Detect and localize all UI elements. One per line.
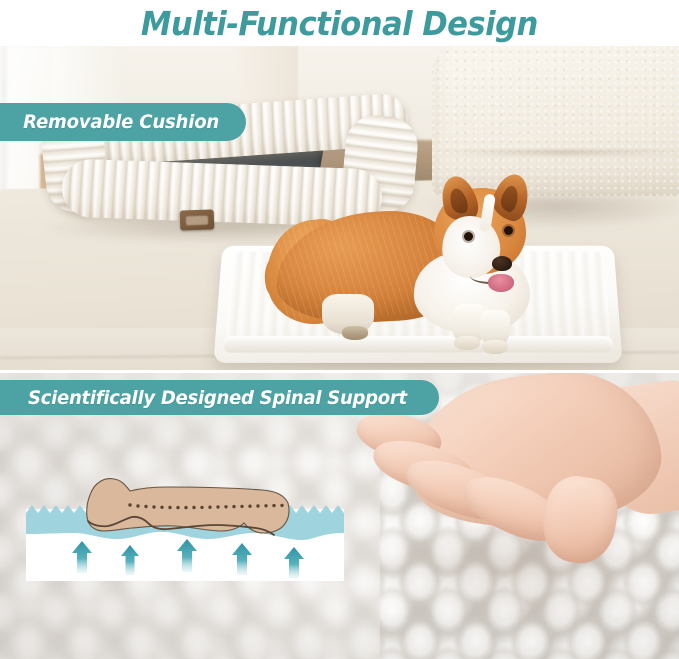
page-title: Multi-Functional Design xyxy=(141,4,538,43)
header-bar: Multi-Functional Design xyxy=(0,0,679,46)
panel-removable-cushion: Removable Cushion xyxy=(0,46,679,370)
dog-ear-inner xyxy=(447,186,470,215)
dog-eye-right xyxy=(504,226,513,235)
dog-eye-left xyxy=(464,232,473,241)
spinal-support-diagram xyxy=(26,461,344,581)
dog-hind-paw xyxy=(342,326,368,340)
corgi-dog xyxy=(266,176,526,366)
dog-front-paw-right xyxy=(482,340,508,354)
badge-spinal-support-label: Scientifically Designed Spinal Support xyxy=(28,387,407,409)
panel-divider xyxy=(0,370,679,373)
sofa-texture xyxy=(432,46,679,196)
human-hand xyxy=(368,381,679,611)
dog-nose xyxy=(492,256,512,271)
badge-removable-cushion-label: Removable Cushion xyxy=(23,111,219,133)
dog-tongue xyxy=(488,274,514,292)
dog-front-paw-left xyxy=(454,336,480,350)
dog-ear-inner xyxy=(499,184,521,213)
support-arrows xyxy=(26,539,344,579)
sofa-seam xyxy=(438,150,679,155)
badge-spinal-support: Scientifically Designed Spinal Support xyxy=(0,380,439,415)
bed-logo-tag xyxy=(180,209,215,230)
badge-removable-cushion: Removable Cushion xyxy=(0,103,246,141)
panel-spinal-support: Scientifically Designed Spinal Support xyxy=(0,373,679,659)
room-scene xyxy=(0,46,679,370)
boucle-sofa xyxy=(432,46,679,196)
product-feature-image: Multi-Functional Design xyxy=(0,0,679,659)
